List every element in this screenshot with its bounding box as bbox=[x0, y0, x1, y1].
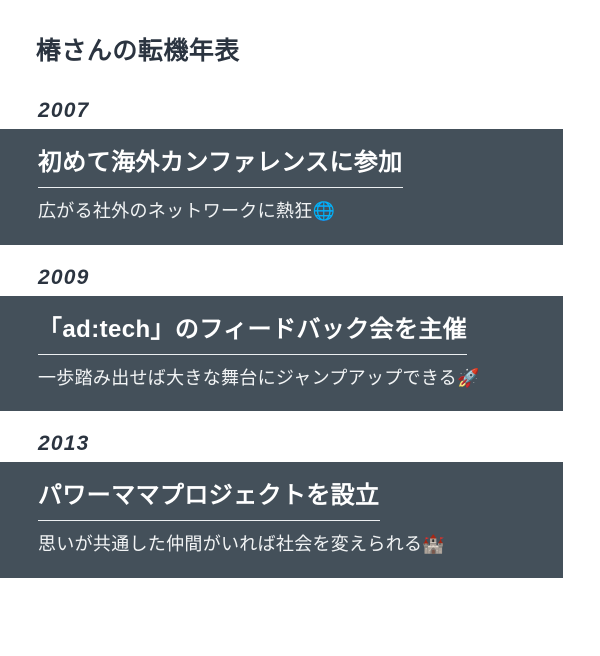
timeline-entry-year: 2013 bbox=[0, 433, 600, 455]
page-title: 椿さんの転機年表 bbox=[36, 36, 240, 67]
timeline-list: 2007 初めて海外カンファレンスに参加 広がる社外のネットワークに熱狂🌐 20… bbox=[0, 100, 600, 600]
timeline-entry-year: 2007 bbox=[0, 100, 600, 122]
timeline-entry-note: 思いが共通した仲間がいれば社会を変えられる🏰 bbox=[38, 532, 543, 557]
timeline-entry-note: 一歩踏み出せば大きな舞台にジャンプアップできる🚀 bbox=[38, 366, 543, 391]
timeline-entry-card: パワーママプロジェクトを設立 思いが共通した仲間がいれば社会を変えられる🏰 bbox=[0, 462, 563, 577]
timeline-entry-card: 初めて海外カンファレンスに参加 広がる社外のネットワークに熱狂🌐 bbox=[0, 129, 563, 244]
timeline-entry-note-text: 思いが共通した仲間がいれば社会を変えられる bbox=[38, 534, 422, 554]
timeline-entry-note-text: 一歩踏み出せば大きな舞台にジャンプアップできる bbox=[38, 368, 457, 388]
timeline-entry-year: 2009 bbox=[0, 267, 600, 289]
rocket-icon: 🚀 bbox=[457, 368, 480, 389]
timeline-entry: 2009 「ad:tech」のフィードバック会を主催 一歩踏み出せば大きな舞台に… bbox=[0, 267, 600, 412]
timeline-entry-headline: パワーママプロジェクトを設立 bbox=[38, 480, 380, 521]
timeline-page: 椿さんの転機年表 2007 初めて海外カンファレンスに参加 広がる社外のネットワ… bbox=[0, 0, 600, 656]
castle-icon: 🏰 bbox=[422, 534, 445, 555]
timeline-entry-note: 広がる社外のネットワークに熱狂🌐 bbox=[38, 199, 543, 224]
globe-with-meridians-icon: 🌐 bbox=[313, 201, 336, 222]
timeline-entry-note-text: 広がる社外のネットワークに熱狂 bbox=[38, 201, 313, 221]
timeline-entry: 2007 初めて海外カンファレンスに参加 広がる社外のネットワークに熱狂🌐 bbox=[0, 100, 600, 245]
timeline-entry-card: 「ad:tech」のフィードバック会を主催 一歩踏み出せば大きな舞台にジャンプア… bbox=[0, 296, 563, 411]
timeline-entry-headline: 初めて海外カンファレンスに参加 bbox=[38, 147, 403, 188]
timeline-entry-headline: 「ad:tech」のフィードバック会を主催 bbox=[38, 314, 467, 355]
timeline-entry: 2013 パワーママプロジェクトを設立 思いが共通した仲間がいれば社会を変えられ… bbox=[0, 433, 600, 578]
